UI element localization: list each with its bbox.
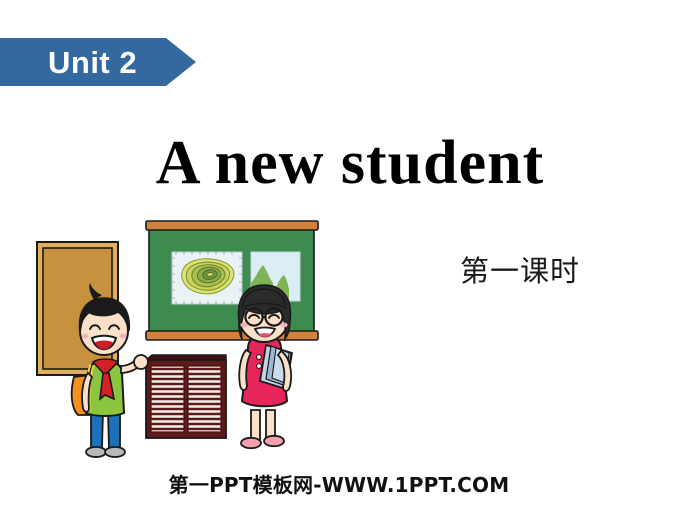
lesson-period-subtitle: 第一课时 — [420, 256, 620, 288]
unit-banner-label: Unit 2 — [48, 47, 137, 78]
girl-student — [239, 285, 292, 448]
poster-contour-map-icon — [172, 252, 242, 304]
classroom-illustration — [8, 205, 348, 480]
unit-banner: Unit 2 — [0, 38, 196, 86]
louvered-cabinet — [146, 355, 226, 438]
page-title: A new student — [0, 131, 700, 196]
slide-canvas: Unit 2 A new student 第一课时 第一PPT模板网-WWW.1… — [0, 0, 700, 525]
